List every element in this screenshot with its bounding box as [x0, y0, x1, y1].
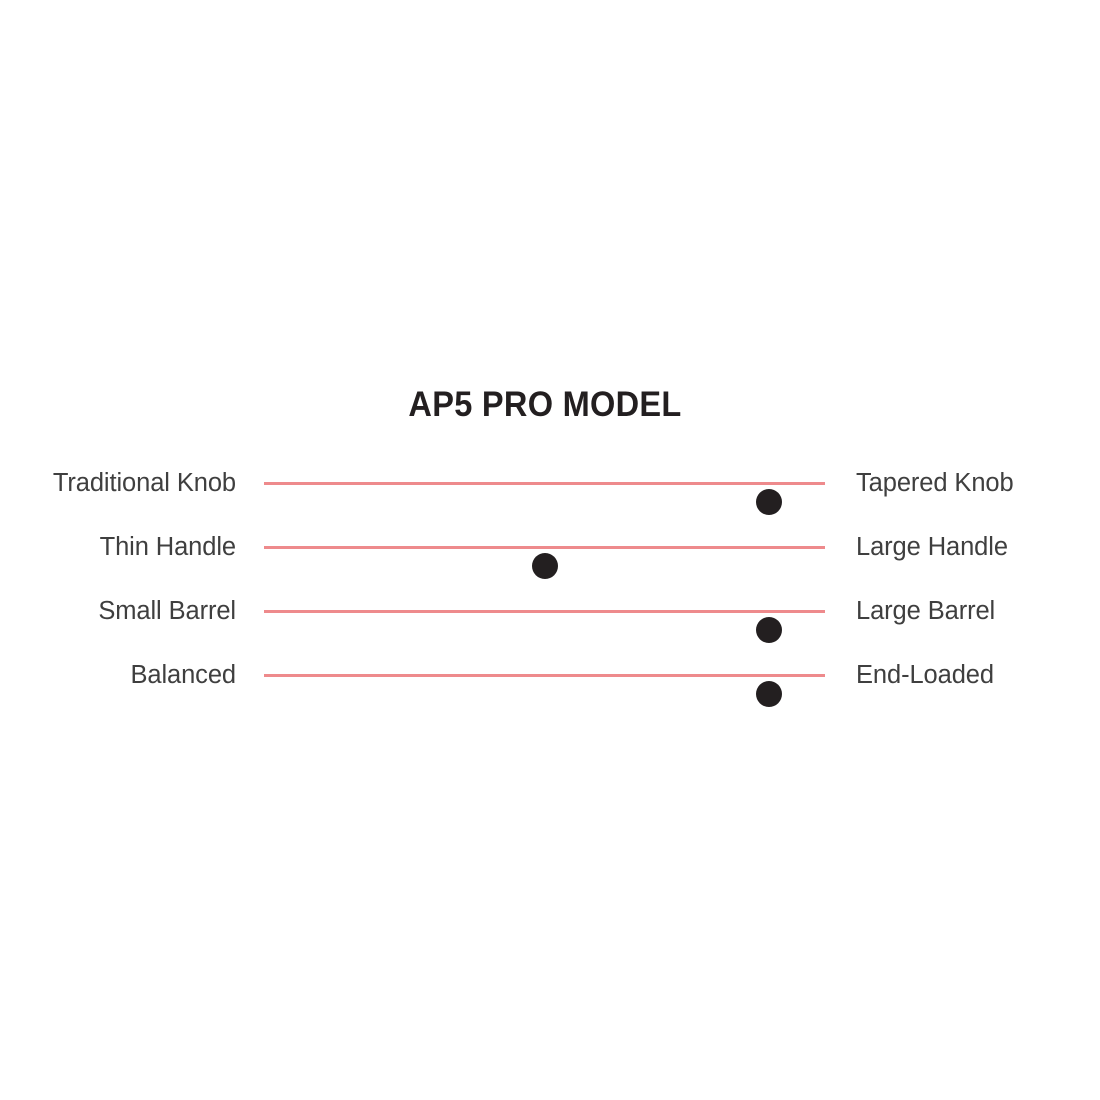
spec-left-label: Balanced: [0, 655, 236, 695]
spec-slider-list: Traditional Knob Tapered Knob Thin Handl…: [0, 0, 1100, 1100]
bat-spec-chart: AP5 PRO MODEL Traditional Knob Tapered K…: [0, 0, 1100, 1100]
spec-marker-dot[interactable]: [756, 617, 782, 643]
spec-left-label: Thin Handle: [0, 527, 236, 567]
spec-right-label: Large Handle: [856, 527, 1096, 567]
spec-track[interactable]: [264, 610, 825, 613]
spec-right-label: Tapered Knob: [856, 463, 1096, 503]
spec-row-thin-handle: Thin Handle Large Handle: [0, 527, 1100, 567]
spec-marker-dot[interactable]: [756, 489, 782, 515]
spec-right-label: End-Loaded: [856, 655, 1096, 695]
spec-right-label: Large Barrel: [856, 591, 1096, 631]
spec-track[interactable]: [264, 674, 825, 677]
spec-track[interactable]: [264, 482, 825, 485]
spec-row-balanced: Balanced End-Loaded: [0, 655, 1100, 695]
spec-marker-dot[interactable]: [532, 553, 558, 579]
spec-left-label: Small Barrel: [0, 591, 236, 631]
spec-left-label: Traditional Knob: [0, 463, 236, 503]
spec-track[interactable]: [264, 546, 825, 549]
spec-row-small-barrel: Small Barrel Large Barrel: [0, 591, 1100, 631]
spec-marker-dot[interactable]: [756, 681, 782, 707]
spec-row-traditional-knob: Traditional Knob Tapered Knob: [0, 463, 1100, 503]
